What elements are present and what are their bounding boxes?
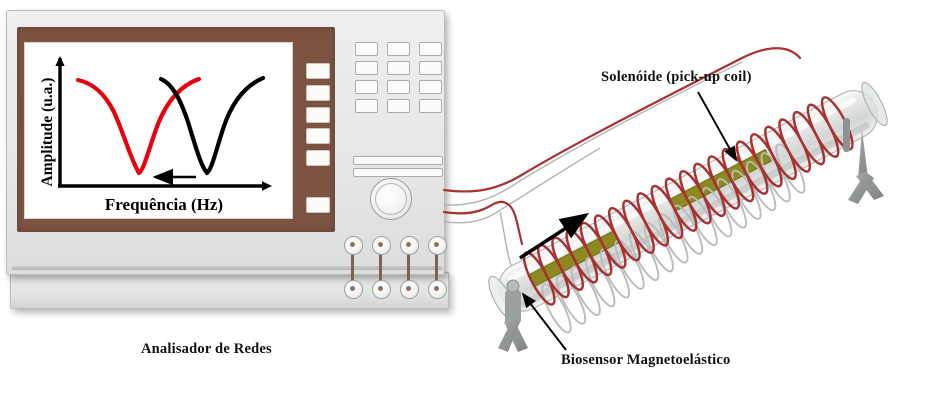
keypad-key-1[interactable]	[355, 42, 378, 56]
analyzer-seam	[12, 266, 442, 270]
keypad-key-7[interactable]	[355, 80, 378, 94]
keypad-key-2[interactable]	[387, 42, 410, 56]
figure-canvas: Frequência (Hz) Amplitude (u.a.)	[0, 0, 932, 413]
solenoid-caption: Solenóide (pick-up coil)	[601, 69, 752, 86]
keypad-key-12[interactable]	[419, 99, 442, 113]
pickup-coil	[519, 94, 858, 308]
port-top-2-center	[378, 242, 383, 247]
keypad-key-5[interactable]	[387, 61, 410, 75]
keypad-key-8[interactable]	[387, 80, 410, 94]
clamp-bracket-right	[843, 118, 850, 152]
port-bottom-2-center	[378, 286, 383, 291]
clamp-knob-left	[507, 280, 519, 292]
keypad-key-9[interactable]	[419, 80, 442, 94]
softkey-5[interactable]	[306, 150, 330, 166]
glass-tube	[484, 79, 892, 322]
biosensor-strip-lower	[528, 231, 619, 287]
keypad-key-4[interactable]	[355, 61, 378, 75]
biosensor-caption: Biosensor Magnetoelástico	[561, 352, 730, 369]
keypad-key-10[interactable]	[355, 99, 378, 113]
slider-bar-2[interactable]	[353, 168, 443, 177]
coil-shadow	[530, 141, 817, 336]
port-top-1-center	[350, 242, 355, 247]
port-bottom-1-center	[350, 286, 355, 291]
port-top-4-center	[434, 242, 439, 247]
port-bottom-4-center	[434, 286, 439, 291]
softkey-4[interactable]	[306, 128, 330, 144]
port-bottom-3-center	[406, 286, 411, 291]
support-stands	[498, 118, 884, 352]
keypad[interactable]	[355, 42, 441, 112]
support-stand-left	[498, 280, 528, 352]
port-top-3-center	[406, 242, 411, 247]
field-direction-arrow	[520, 215, 586, 258]
softkey-1[interactable]	[306, 63, 330, 79]
keypad-key-11[interactable]	[387, 99, 410, 113]
biosensor-leader-line	[523, 294, 566, 350]
rotary-knob-face	[375, 183, 407, 215]
softkey-3[interactable]	[306, 107, 330, 123]
keypad-key-6[interactable]	[419, 61, 442, 75]
biosensor-strip-upper	[669, 150, 771, 211]
analyzer-caption: Analisador de Redes	[141, 341, 272, 358]
keypad-key-3[interactable]	[419, 42, 442, 56]
softkey-2[interactable]	[306, 85, 330, 101]
analyzer-screen	[24, 42, 293, 219]
softkey-6[interactable]	[306, 197, 330, 213]
solenoid-leader-line	[698, 92, 736, 160]
guide-wires	[444, 62, 742, 268]
support-stand-right	[843, 118, 884, 204]
slider-bar-1[interactable]	[353, 156, 443, 165]
biosensor-strips	[527, 150, 772, 287]
